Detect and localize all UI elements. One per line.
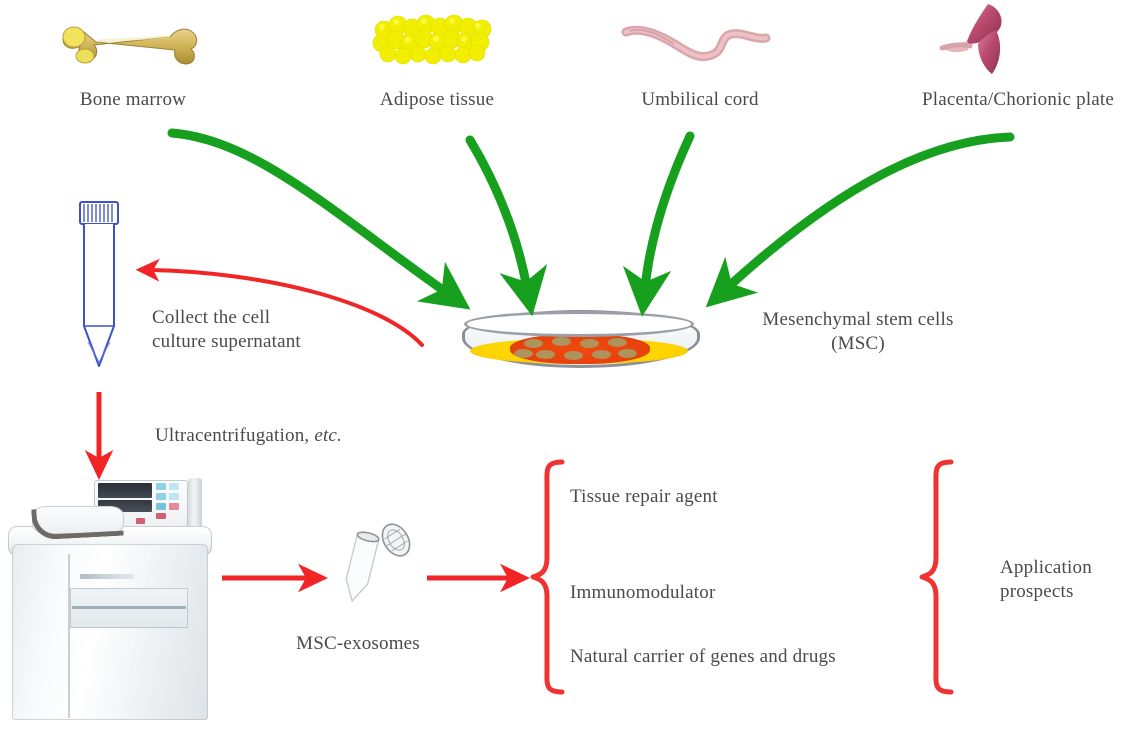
placenta-icon bbox=[930, 0, 1040, 86]
isolation-label: Ultracentrifugation, etc. bbox=[155, 424, 342, 448]
application-summary-line2: prospects bbox=[1000, 580, 1074, 604]
exosome-tube-icon bbox=[330, 518, 426, 614]
arrow-adipose-to-dish bbox=[470, 140, 527, 288]
centrifuge-handle bbox=[31, 505, 123, 541]
culture-label-line2: (MSC) bbox=[831, 332, 885, 356]
arrow-umbilical-cord-to-dish bbox=[645, 136, 690, 288]
centrifuge-door-handle bbox=[72, 606, 186, 609]
centrifuge-tube-icon bbox=[74, 200, 124, 385]
centrifuge-brand-mark bbox=[80, 574, 134, 579]
centrifuge-button bbox=[169, 493, 179, 500]
applications-brace-left bbox=[533, 462, 562, 692]
centrifuge-button bbox=[156, 493, 166, 500]
application-summary-line1: Application bbox=[1000, 556, 1092, 580]
exosome-vesicle-icon bbox=[377, 519, 415, 561]
culture-label-line1: Mesenchymal stem cells bbox=[762, 308, 953, 332]
source-label-placenta: Placenta/Chorionic plate bbox=[922, 88, 1114, 112]
collect-label-line2: culture supernatant bbox=[152, 330, 301, 354]
collect-label-line1: Collect the cell bbox=[152, 306, 270, 330]
centrifuge-button bbox=[156, 513, 166, 519]
centrifuge-display-upper bbox=[98, 483, 152, 498]
bone-icon bbox=[58, 18, 208, 70]
applications-brace-right bbox=[922, 462, 951, 692]
petri-dish-rim bbox=[464, 311, 694, 337]
application-item-1: Tissue repair agent bbox=[570, 485, 718, 509]
arrow-placenta-to-dish bbox=[727, 137, 1010, 288]
petri-dish-cell-colony bbox=[510, 334, 650, 364]
centrifuge-button bbox=[156, 503, 166, 510]
isolation-label-text: Ultracentrifugation, bbox=[155, 425, 314, 446]
centrifuge-cabinet bbox=[12, 544, 208, 720]
source-label-bone-marrow: Bone marrow bbox=[80, 88, 186, 112]
application-item-2: Immunomodulator bbox=[570, 581, 715, 605]
source-arrows bbox=[172, 133, 1010, 293]
centrifuge-button bbox=[169, 483, 179, 490]
adipose-tissue-icon bbox=[372, 12, 498, 66]
arrow-bone-marrow-to-dish bbox=[172, 133, 447, 293]
centrifuge-button bbox=[156, 483, 166, 490]
product-label: MSC-exosomes bbox=[296, 632, 420, 656]
application-item-3: Natural carrier of genes and drugs bbox=[570, 645, 836, 669]
source-label-umbilical-cord: Umbilical cord bbox=[641, 88, 758, 112]
ultracentrifuge-icon bbox=[8, 470, 218, 728]
umbilical-cord-icon bbox=[620, 14, 776, 74]
centrifuge-panel-seam bbox=[68, 554, 70, 718]
centrifuge-button bbox=[136, 518, 145, 524]
source-label-adipose-tissue: Adipose tissue bbox=[380, 88, 494, 112]
petri-dish-icon bbox=[462, 310, 700, 378]
isolation-label-etc: etc. bbox=[314, 425, 342, 446]
centrifuge-button bbox=[169, 503, 179, 510]
diagram-canvas: Bone marrow Adipose tissue Umbilical cor… bbox=[0, 0, 1121, 733]
